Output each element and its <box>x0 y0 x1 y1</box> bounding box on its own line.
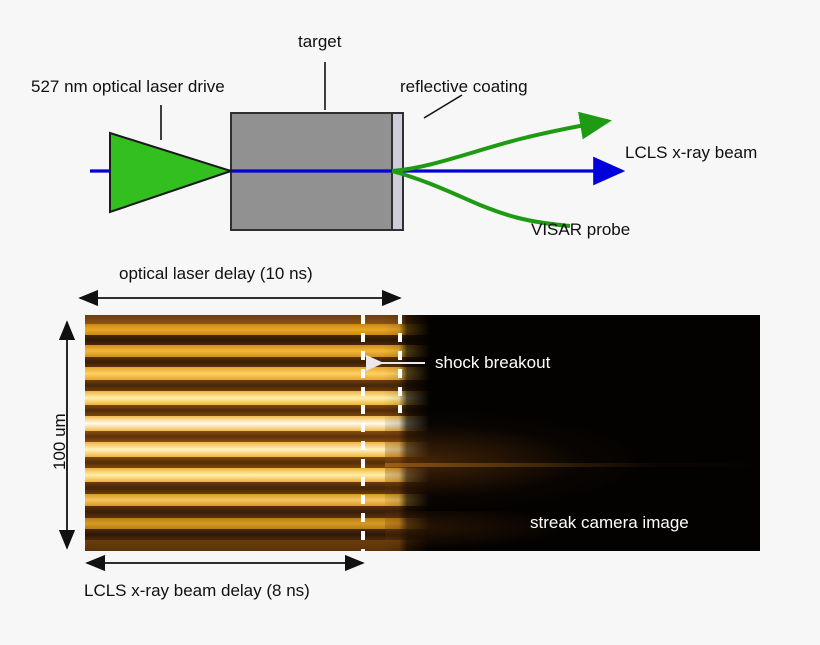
label-xray-beam-delay: LCLS x-ray beam delay (8 ns) <box>84 581 310 601</box>
figure-root: shock breakout streak camera image <box>0 0 820 645</box>
optical-laser-drive-cone <box>110 133 231 212</box>
label-visar-probe: VISAR probe <box>531 220 630 240</box>
leader-reflective-coating <box>424 95 462 118</box>
label-optical-laser-delay: optical laser delay (10 ns) <box>119 264 313 284</box>
visar-probe-upper-ray <box>392 121 608 171</box>
label-reflective-coating: reflective coating <box>400 77 528 97</box>
label-laser-drive: 527 nm optical laser drive <box>31 77 225 97</box>
label-vertical-scale: 100 um <box>50 413 70 470</box>
label-xray-beam: LCLS x-ray beam <box>625 143 757 163</box>
visar-probe-lower-ray <box>392 171 570 226</box>
label-target: target <box>298 32 341 52</box>
